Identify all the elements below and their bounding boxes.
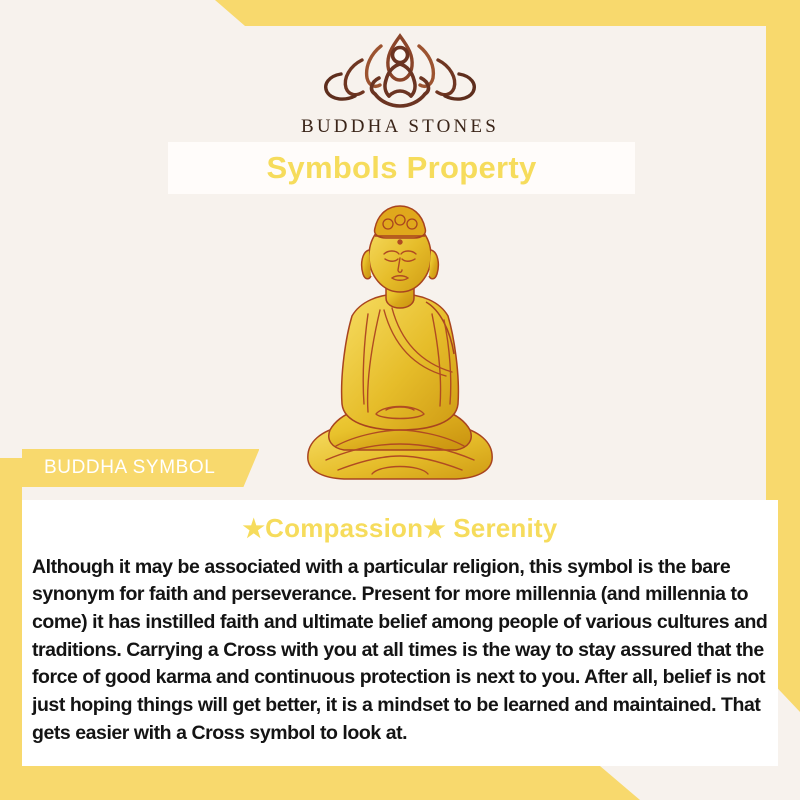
decorative-left-bar — [0, 458, 22, 778]
lotus-meditation-icon — [315, 22, 485, 114]
title-banner: Symbols Property — [168, 142, 635, 194]
buddha-symbol-tag: BUDDHA SYMBOL — [22, 449, 259, 487]
headline-word-compassion: Compassion — [265, 513, 423, 543]
decorative-bottom-bar — [0, 766, 640, 800]
star-icon-left: ★ — [243, 515, 266, 543]
headline-word-serenity: Serenity — [453, 513, 557, 543]
star-icon-right: ★ — [423, 515, 446, 543]
content-headline: ★Compassion★ Serenity — [22, 514, 778, 544]
buddha-statue-image — [280, 198, 520, 498]
brand-name: BUDDHA STONES — [0, 116, 800, 138]
brand-logo: BUDDHA STONES — [0, 22, 800, 138]
page-title: Symbols Property — [266, 150, 536, 186]
content-panel: ★Compassion★ Serenity Although it may be… — [22, 500, 778, 766]
promo-card: BUDDHA STONES Symbols Property — [0, 0, 800, 800]
tag-label: BUDDHA SYMBOL — [44, 457, 215, 479]
content-paragraph: Although it may be associated with a par… — [32, 554, 768, 748]
